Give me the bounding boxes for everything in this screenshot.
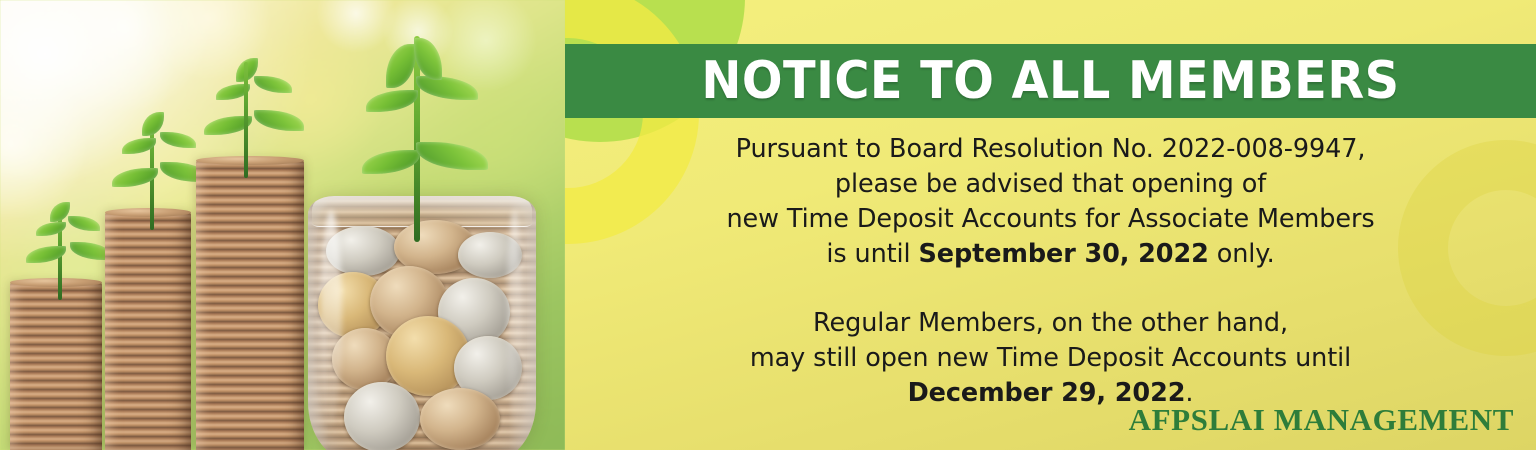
notice-text: Regular Members, on the other hand, bbox=[813, 308, 1288, 338]
notice-paragraph: Pursuant to Board Resolution No. 2022-00… bbox=[565, 132, 1536, 272]
notice-text: new Time Deposit Accounts for Associate … bbox=[726, 204, 1374, 234]
coin-stack-icon bbox=[105, 212, 191, 450]
notice-line: may still open new Time Deposit Accounts… bbox=[565, 341, 1536, 376]
sprout-icon bbox=[202, 58, 308, 178]
sprout-icon bbox=[352, 34, 512, 242]
coins-and-plants-photo bbox=[0, 0, 565, 450]
coin-stack-icon bbox=[10, 282, 102, 450]
notice-text: Pursuant to Board Resolution No. 2022-00… bbox=[736, 134, 1366, 164]
sprout-icon bbox=[24, 202, 114, 300]
notice-text: only. bbox=[1209, 239, 1275, 269]
notice-line: is until September 30, 2022 only. bbox=[565, 237, 1536, 272]
notice-line: Pursuant to Board Resolution No. 2022-00… bbox=[565, 132, 1536, 167]
notice-banner: NOTICE TO ALL MEMBERS Pursuant to Board … bbox=[0, 0, 1536, 450]
page-title: NOTICE TO ALL MEMBERS bbox=[701, 55, 1399, 107]
notice-text: please be advised that opening of bbox=[835, 169, 1266, 199]
notice-line: new Time Deposit Accounts for Associate … bbox=[565, 202, 1536, 237]
notice-body: Pursuant to Board Resolution No. 2022-00… bbox=[565, 132, 1536, 411]
notice-text: may still open new Time Deposit Accounts… bbox=[750, 343, 1351, 373]
notice-text: is until bbox=[826, 239, 918, 269]
notice-panel: NOTICE TO ALL MEMBERS Pursuant to Board … bbox=[565, 0, 1536, 450]
signature-text: AFPSLAI MANAGEMENT bbox=[1129, 402, 1514, 438]
notice-title-bar: NOTICE TO ALL MEMBERS bbox=[565, 44, 1536, 118]
notice-emphasis: September 30, 2022 bbox=[919, 239, 1209, 269]
notice-line: please be advised that opening of bbox=[565, 167, 1536, 202]
coin-stack-icon bbox=[196, 160, 304, 450]
notice-paragraph: Regular Members, on the other hand,may s… bbox=[565, 306, 1536, 411]
notice-line: Regular Members, on the other hand, bbox=[565, 306, 1536, 341]
